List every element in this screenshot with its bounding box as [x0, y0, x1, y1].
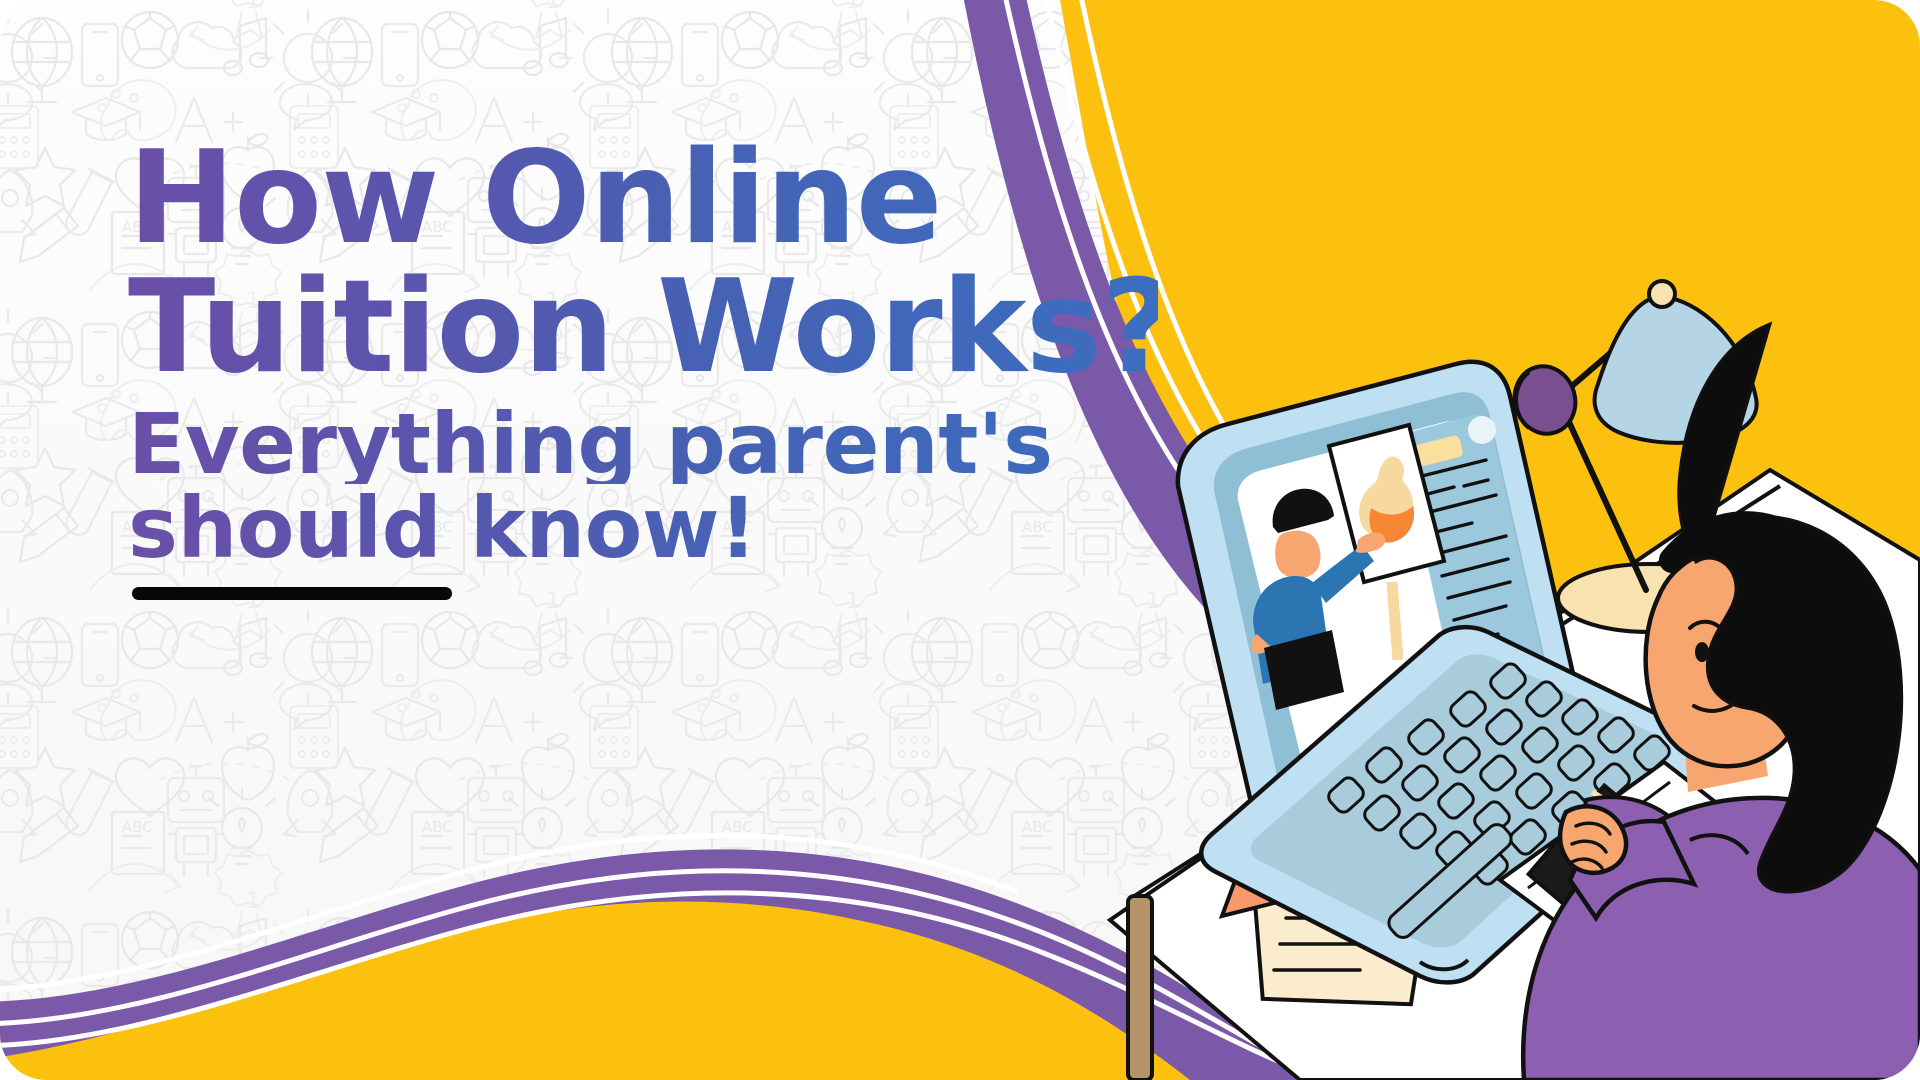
lamp-knob: [1649, 281, 1675, 307]
headline-line-4: should know!: [128, 488, 1158, 569]
notes-avatar-dot: [1468, 416, 1496, 444]
teacher-face: [1275, 531, 1320, 579]
headline-block: How Online Tuition Works? Everything par…: [128, 138, 1158, 600]
online-tuition-banner: ABC: [0, 0, 1920, 1080]
whiteboard-stand: [1392, 582, 1398, 660]
headline-line-1: How Online: [128, 138, 1158, 261]
title-underline: [132, 587, 452, 600]
headline-line-2: Tuition Works?: [128, 267, 1158, 390]
headline-line-3: Everything parent's: [128, 404, 1158, 485]
desk-leg: [1128, 896, 1152, 1080]
